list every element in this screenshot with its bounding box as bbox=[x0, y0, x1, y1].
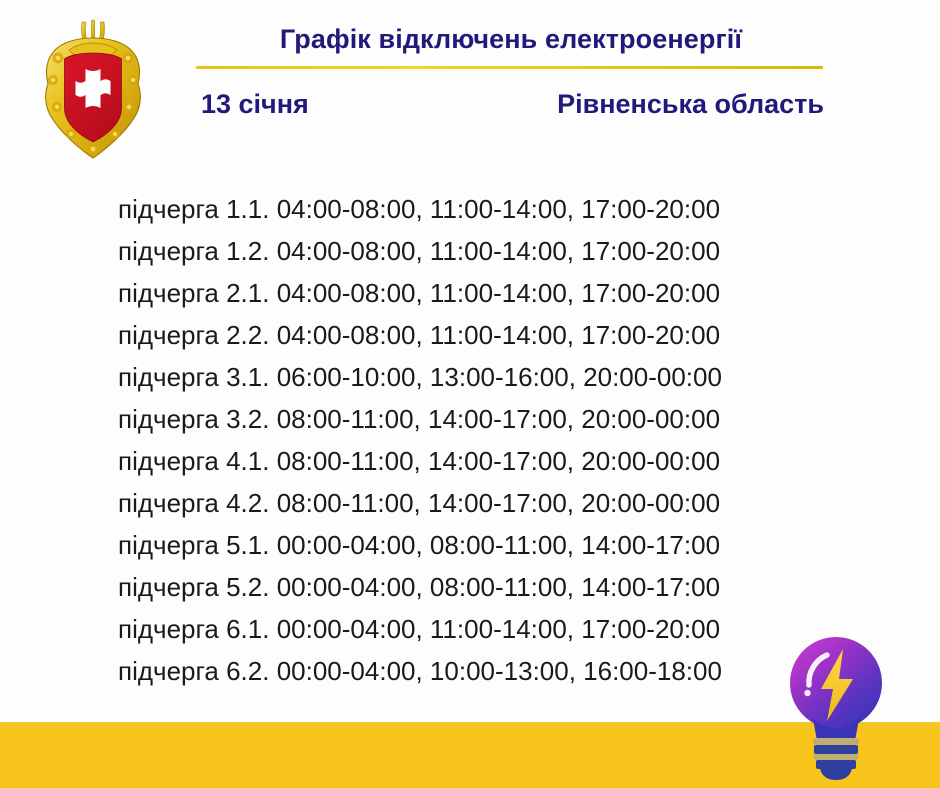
schedule-row: підчерга 4.2. 08:00-11:00, 14:00-17:00, … bbox=[118, 482, 818, 524]
schedule-row: підчерга 3.2. 08:00-11:00, 14:00-17:00, … bbox=[118, 398, 818, 440]
header: Графік відключень електроенергії 13 січн… bbox=[196, 22, 826, 120]
queue-label: підчерга 6.1. bbox=[118, 614, 269, 644]
schedule-row: підчерга 6.1. 00:00-04:00, 11:00-14:00, … bbox=[118, 608, 818, 650]
schedule-row: підчерга 1.2. 04:00-08:00, 11:00-14:00, … bbox=[118, 230, 818, 272]
schedule-row: підчерга 6.2. 00:00-04:00, 10:00-13:00, … bbox=[118, 650, 818, 692]
queue-label: підчерга 2.2. bbox=[118, 320, 269, 350]
queue-time-slots: 00:00-04:00, 11:00-14:00, 17:00-20:00 bbox=[277, 614, 720, 644]
page-title: Графік відключень електроенергії bbox=[196, 22, 826, 56]
rivne-oblast-coat-of-arms-icon bbox=[33, 12, 153, 164]
queue-time-slots: 04:00-08:00, 11:00-14:00, 17:00-20:00 bbox=[277, 278, 720, 308]
queue-time-slots: 04:00-08:00, 11:00-14:00, 17:00-20:00 bbox=[277, 320, 720, 350]
schedule-row: підчерга 4.1. 08:00-11:00, 14:00-17:00, … bbox=[118, 440, 818, 482]
queue-time-slots: 04:00-08:00, 11:00-14:00, 17:00-20:00 bbox=[277, 236, 720, 266]
queue-label: підчерга 1.2. bbox=[118, 236, 269, 266]
schedule-date: 13 січня bbox=[201, 89, 309, 120]
queue-time-slots: 08:00-11:00, 14:00-17:00, 20:00-00:00 bbox=[277, 404, 720, 434]
queue-label: підчерга 4.2. bbox=[118, 488, 269, 518]
schedule-row: підчерга 2.2. 04:00-08:00, 11:00-14:00, … bbox=[118, 314, 818, 356]
queue-time-slots: 08:00-11:00, 14:00-17:00, 20:00-00:00 bbox=[277, 488, 720, 518]
light-bulb-icon bbox=[783, 627, 889, 782]
queue-label: підчерга 6.2. bbox=[118, 656, 269, 686]
queue-label: підчерга 5.1. bbox=[118, 530, 269, 560]
outage-schedule-list: підчерга 1.1. 04:00-08:00, 11:00-14:00, … bbox=[118, 188, 818, 692]
schedule-row: підчерга 1.1. 04:00-08:00, 11:00-14:00, … bbox=[118, 188, 818, 230]
region-name: Рівненська область bbox=[557, 89, 824, 120]
queue-time-slots: 08:00-11:00, 14:00-17:00, 20:00-00:00 bbox=[277, 446, 720, 476]
queue-label: підчерга 3.2. bbox=[118, 404, 269, 434]
queue-label: підчерга 5.2. bbox=[118, 572, 269, 602]
queue-time-slots: 00:00-04:00, 08:00-11:00, 14:00-17:00 bbox=[277, 572, 720, 602]
queue-label: підчерга 2.1. bbox=[118, 278, 269, 308]
queue-time-slots: 00:00-04:00, 10:00-13:00, 16:00-18:00 bbox=[277, 656, 722, 686]
queue-time-slots: 04:00-08:00, 11:00-14:00, 17:00-20:00 bbox=[277, 194, 720, 224]
queue-time-slots: 00:00-04:00, 08:00-11:00, 14:00-17:00 bbox=[277, 530, 720, 560]
schedule-row: підчерга 2.1. 04:00-08:00, 11:00-14:00, … bbox=[118, 272, 818, 314]
queue-time-slots: 06:00-10:00, 13:00-16:00, 20:00-00:00 bbox=[277, 362, 722, 392]
title-underline-rule bbox=[196, 66, 823, 69]
queue-label: підчерга 3.1. bbox=[118, 362, 269, 392]
schedule-row: підчерга 5.2. 00:00-04:00, 08:00-11:00, … bbox=[118, 566, 818, 608]
outage-schedule-poster: Графік відключень електроенергії 13 січн… bbox=[0, 0, 940, 788]
schedule-row: підчерга 3.1. 06:00-10:00, 13:00-16:00, … bbox=[118, 356, 818, 398]
queue-label: підчерга 4.1. bbox=[118, 446, 269, 476]
subtitle-row: 13 січня Рівненська область bbox=[196, 89, 826, 120]
schedule-row: підчерга 5.1. 00:00-04:00, 08:00-11:00, … bbox=[118, 524, 818, 566]
queue-label: підчерга 1.1. bbox=[118, 194, 269, 224]
